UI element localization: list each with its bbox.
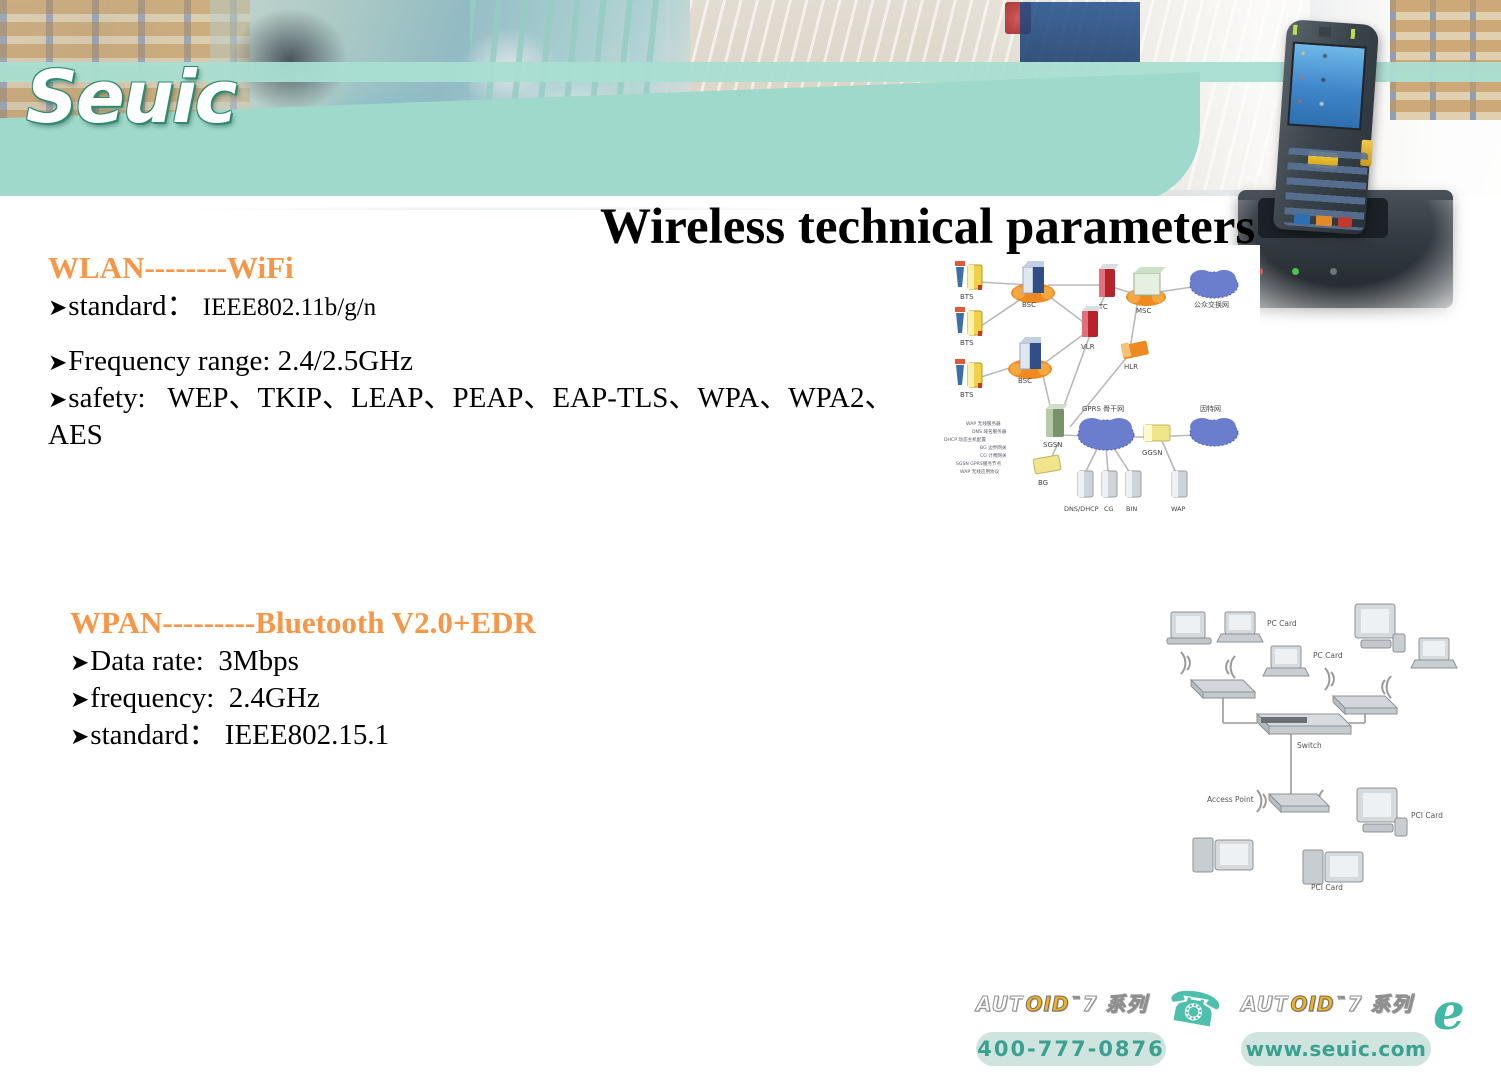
ggsn-node: GGSN — [1142, 425, 1170, 457]
autoid-id: OID — [1288, 992, 1336, 1016]
svg-text:PCI Card: PCI Card — [1411, 811, 1443, 820]
msc-node: MSC — [1126, 267, 1166, 315]
autoid-series-cn: 系列 — [1105, 992, 1147, 1016]
laptop-icon — [1167, 612, 1211, 644]
svg-text:HLR: HLR — [1124, 363, 1138, 371]
svg-text:PC Card: PC Card — [1267, 619, 1297, 628]
server-bin: BIN — [1126, 471, 1141, 513]
bullet-arrow-icon: ➤ — [70, 650, 89, 676]
wlan-topology-svg: PC Card PC Card — [1165, 590, 1485, 890]
svg-text:MSC: MSC — [1136, 307, 1151, 315]
svg-text:BSC: BSC — [1018, 377, 1032, 385]
bts-tower-group: BTS — [955, 261, 982, 301]
autoid-suffix: 7 — [1083, 992, 1098, 1016]
svg-text:Switch: Switch — [1297, 741, 1322, 750]
bullet-arrow-icon: ➤ — [70, 687, 89, 713]
access-point-icon — [1333, 696, 1397, 714]
autoid-tm: ™ — [1337, 995, 1348, 1006]
svg-text:Access Point: Access Point — [1207, 795, 1254, 804]
sgsn-node: SGSN — [1043, 404, 1068, 449]
wlan-bullet-safety: ➤safety: WEP、TKIP、LEAP、PEAP、EAP-TLS、WPA、… — [48, 380, 908, 454]
wpan-datarate-label: Data rate: — [90, 645, 204, 677]
laptop-icon: PC Card — [1217, 612, 1297, 642]
wpan-datarate-value: 3Mbps — [218, 645, 299, 677]
wlan-bullet-standard: ➤standard： IEEE802.11b/g/n — [48, 288, 908, 325]
cradle-led-green — [1292, 268, 1299, 275]
wlan-frequency-label: Frequency range: — [68, 345, 270, 377]
access-point-icon: Access Point — [1207, 794, 1329, 812]
bullet-arrow-icon: ➤ — [48, 295, 67, 321]
gsm-diagram-legend: WAP 无线服务器 DNS 域名服务器 DHCP 动态主机配置 BG 边界网关 … — [944, 420, 1007, 475]
wpan-standard-label: standard： — [90, 719, 217, 751]
wlan-topology-diagram: PC Card PC Card — [1165, 590, 1485, 890]
website-pill[interactable]: www.seuic.com — [1241, 1032, 1431, 1066]
bullet-arrow-icon: ➤ — [48, 387, 67, 413]
gsm-network-diagram: BTS BTS BTS — [930, 245, 1260, 525]
svg-text:DNS/DHCP: DNS/DHCP — [1064, 505, 1099, 513]
banner-photo-sign-blue — [1020, 2, 1140, 62]
svg-text:BSC: BSC — [1022, 301, 1036, 309]
pda-screen-icons — [1290, 45, 1359, 123]
section-wpan: WPAN---------Bluetooth V2.0+EDR ➤Data ra… — [70, 605, 770, 754]
footer-block-web: AUTOID™7 系列 e www.seuic.com — [1235, 980, 1485, 1075]
svg-text:WAP: WAP — [1171, 505, 1186, 513]
phone-icon: ☎ — [1162, 983, 1210, 1041]
cradle-led-off — [1330, 268, 1337, 275]
laptop-icon: PC Card — [1263, 646, 1343, 676]
pda-device-photo — [1238, 0, 1501, 330]
internet-e-icon: e — [1433, 990, 1479, 1036]
svg-text:BIN: BIN — [1126, 505, 1137, 513]
autoid-series-cn: 系列 — [1370, 992, 1412, 1016]
wlan-bullet-frequency: ➤Frequency range: 2.4/2.5GHz — [48, 343, 908, 380]
autoid-prefix: AUT — [1241, 992, 1288, 1016]
wpan-frequency-label: frequency: — [90, 682, 214, 714]
wpan-frequency-value: 2.4GHz — [229, 682, 320, 714]
desktop-pc-icon: PCI Card — [1357, 788, 1443, 836]
svg-text:公众交换网: 公众交换网 — [1194, 300, 1229, 309]
wpan-standard-value: IEEE802.15.1 — [225, 719, 389, 751]
wlan-safety-label: safety: — [68, 382, 145, 414]
server-dns-dhcp: DNS/DHCP — [1064, 471, 1099, 513]
svg-text:SGSN GPRS服务节点: SGSN GPRS服务节点 — [956, 460, 1002, 467]
bts-tower-group: BTS — [955, 307, 982, 347]
cloud-gprs-backbone: GPRS 骨干网 — [1078, 405, 1134, 450]
autoid-id: OID — [1023, 992, 1071, 1016]
cloud-internet: 因特网 — [1190, 404, 1238, 446]
svg-text:GGSN: GGSN — [1142, 449, 1163, 457]
footer-logos: AUTOID™7 系列 ☎ 400-777-0876 AUTOID™7 系列 e… — [960, 980, 1490, 1075]
svg-text:DNS 域名服务器: DNS 域名服务器 — [972, 428, 1007, 435]
spacer — [48, 325, 908, 343]
wlan-standard-label: standard： — [68, 290, 195, 322]
svg-text:BG: BG — [1038, 479, 1048, 487]
wlan-safety-value: WEP、TKIP、LEAP、PEAP、EAP-TLS、WPA、WPA2、AES — [48, 382, 893, 451]
section-wlan: WLAN--------WiFi ➤standard： IEEE802.11b/… — [48, 250, 908, 454]
svg-text:SGSN: SGSN — [1043, 441, 1063, 449]
hlr-node: HLR — [1121, 340, 1150, 371]
svg-text:CG 计费网关: CG 计费网关 — [980, 452, 1007, 459]
switch-icon: Switch — [1257, 714, 1351, 750]
wlan-standard-value: IEEE802.11b/g/n — [203, 294, 376, 321]
svg-text:DHCP 动态主机配置: DHCP 动态主机配置 — [944, 436, 986, 443]
hotline-pill[interactable]: 400-777-0876 — [976, 1032, 1166, 1066]
svg-text:PC Card: PC Card — [1313, 651, 1343, 660]
bullet-arrow-icon: ➤ — [70, 724, 89, 750]
autoid-tm: ™ — [1072, 995, 1083, 1006]
bsc-node: BSC — [1008, 337, 1052, 385]
footer-block-phone: AUTOID™7 系列 ☎ 400-777-0876 — [970, 980, 1220, 1075]
slide-root: Seuic Wireless technical parameters WLAN… — [0, 0, 1501, 1075]
svg-text:GPRS 骨干网: GPRS 骨干网 — [1082, 405, 1124, 413]
svg-text:VLR: VLR — [1081, 343, 1095, 351]
wpan-bullet-frequency: ➤frequency: 2.4GHz — [70, 680, 770, 717]
svg-text:WAP 无线应用协议: WAP 无线应用协议 — [960, 468, 1000, 475]
svg-text:PCI Card: PCI Card — [1311, 883, 1343, 890]
desktop-pc-icon: PCI Card — [1303, 850, 1363, 890]
server-wap: WAP — [1171, 471, 1187, 513]
svg-text:BTS: BTS — [960, 391, 974, 399]
vlr-node: VLR — [1081, 306, 1102, 351]
svg-text:BTS: BTS — [960, 293, 974, 301]
svg-text:CG: CG — [1104, 505, 1114, 513]
wpan-heading: WPAN---------Bluetooth V2.0+EDR — [70, 605, 770, 641]
access-point-icon — [1191, 680, 1255, 698]
seuic-logo: Seuic — [26, 55, 235, 139]
autoid-prefix: AUT — [976, 992, 1023, 1016]
wlan-frequency-value: 2.4/2.5GHz — [278, 345, 413, 377]
autoid-logo: AUTOID™7 系列 — [1241, 988, 1412, 1017]
server-cg: CG — [1102, 471, 1117, 513]
laptop-icon — [1411, 638, 1457, 668]
autoid-suffix: 7 — [1348, 992, 1363, 1016]
page-title: Wireless technical parameters — [600, 198, 1400, 256]
bts-tower-group: BTS — [955, 359, 982, 399]
bullet-arrow-icon: ➤ — [48, 350, 67, 376]
svg-text:BG 边界网关: BG 边界网关 — [980, 444, 1007, 451]
desktop-pc-icon — [1355, 604, 1405, 652]
desktop-pc-icon — [1193, 838, 1253, 872]
svg-text:WAP 无线服务器: WAP 无线服务器 — [966, 420, 1001, 427]
gsm-network-svg: BTS BTS BTS — [930, 245, 1260, 525]
svg-text:BTS: BTS — [960, 339, 974, 347]
svg-text:因特网: 因特网 — [1200, 404, 1221, 413]
cloud-pstn: 公众交换网 — [1190, 270, 1238, 309]
wpan-bullet-datarate: ➤Data rate: 3Mbps — [70, 643, 770, 680]
wpan-bullet-standard: ➤standard： IEEE802.15.1 — [70, 717, 770, 754]
autoid-logo: AUTOID™7 系列 — [976, 988, 1147, 1017]
bg-node: BG — [1033, 455, 1061, 487]
